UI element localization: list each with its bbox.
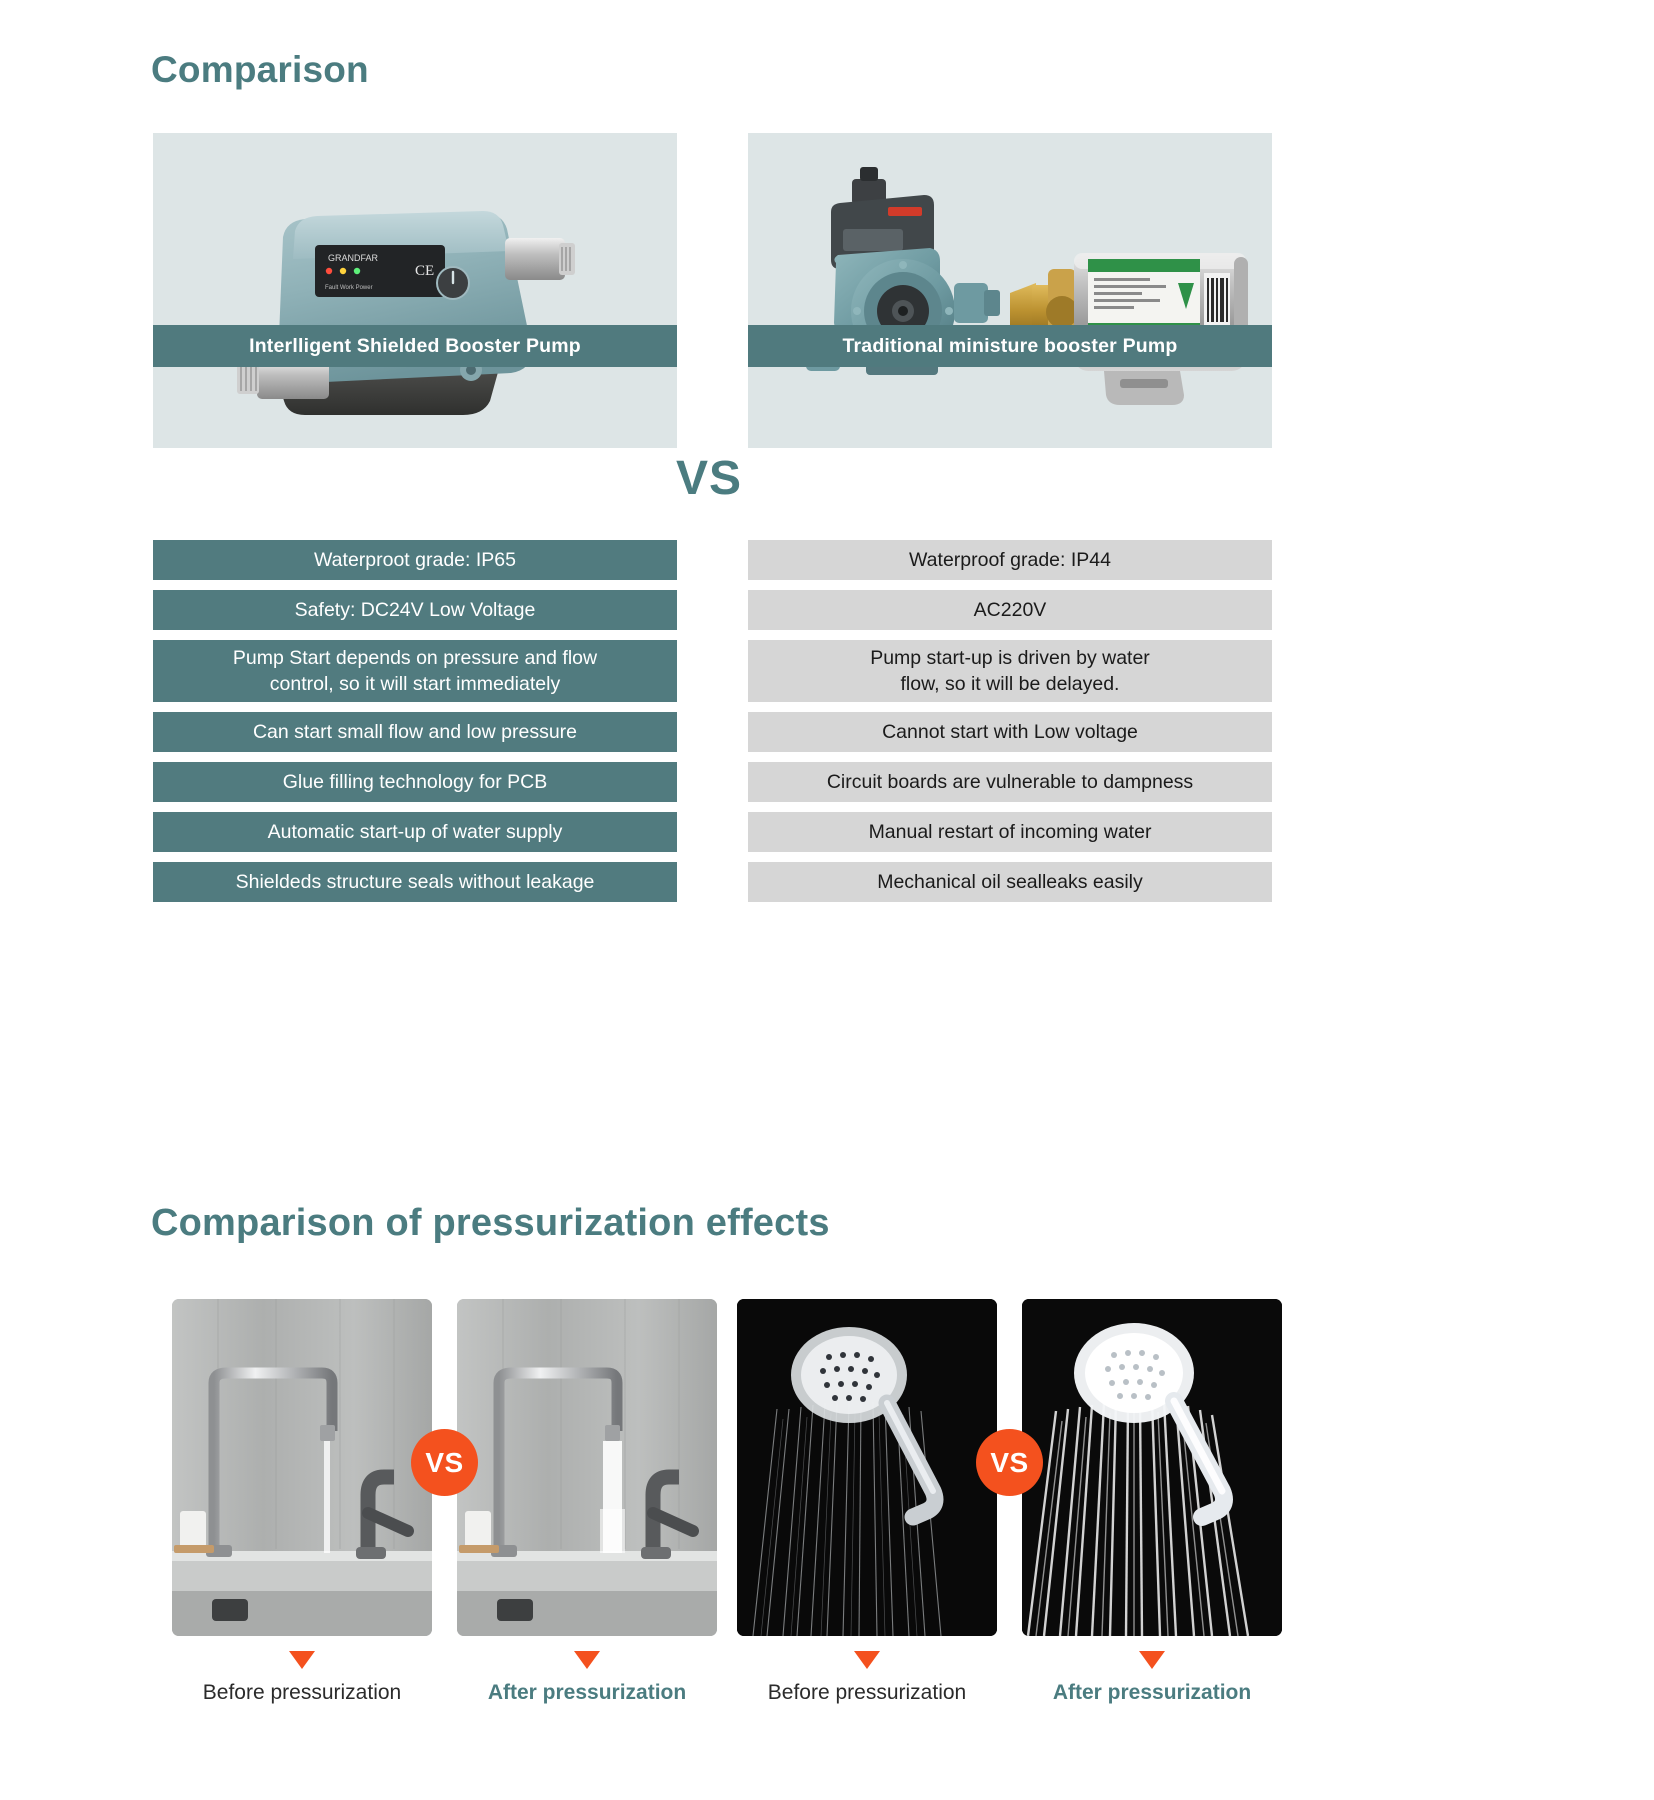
product-caption-left: Interlligent Shielded Booster Pump	[153, 325, 677, 367]
feature-row-label: Waterproof grade: IP44	[909, 547, 1111, 573]
faucet-strong-flow-illustration	[457, 1299, 717, 1636]
vs-badge-shower: VS	[976, 1429, 1043, 1496]
feature-row-label: Waterproot grade: IP65	[314, 547, 516, 573]
feature-row-left-4: Can start small flow and low pressure	[153, 712, 677, 752]
feature-row-right-3: Pump start-up is driven by waterflow, so…	[748, 640, 1272, 702]
pointer-arrow-before-shower	[854, 1651, 880, 1669]
comparison-panels: GRANDFAR Fault Work Power CE	[0, 133, 1654, 508]
product-comparison-page: Comparison	[0, 0, 1654, 1799]
intelligent-booster-pump-illustration: GRANDFAR Fault Work Power CE	[153, 133, 677, 448]
showerhead-strong-flow-illustration	[1022, 1299, 1282, 1636]
caption-after-faucet: After pressurization	[457, 1681, 717, 1705]
feature-row-label: Glue filling technology for PCB	[283, 769, 547, 795]
feature-list-left: Waterproot grade: IP65Safety: DC24V Low …	[153, 540, 677, 912]
showerhead-weak-flow-illustration	[737, 1299, 997, 1636]
product-image-right	[748, 133, 1272, 448]
feature-row-label: Can start small flow and low pressure	[253, 719, 577, 745]
feature-row-left-5: Glue filling technology for PCB	[153, 762, 677, 802]
feature-row-right-1: Waterproof grade: IP44	[748, 540, 1272, 580]
feature-row-right-4: Cannot start with Low voltage	[748, 712, 1272, 752]
feature-row-label: Pump start-up is driven by waterflow, so…	[870, 645, 1150, 697]
pointer-arrow-before-faucet	[289, 1651, 315, 1669]
feature-row-left-2: Safety: DC24V Low Voltage	[153, 590, 677, 630]
feature-row-label: Shieldeds structure seals without leakag…	[236, 869, 595, 895]
feature-row-label: Manual restart of incoming water	[869, 819, 1152, 845]
feature-row-label: Cannot start with Low voltage	[882, 719, 1138, 745]
product-caption-right: Traditional ministure booster Pump	[748, 325, 1272, 367]
feature-row-right-5: Circuit boards are vulnerable to dampnes…	[748, 762, 1272, 802]
traditional-booster-pumps-illustration	[748, 133, 1272, 448]
feature-row-left-3: Pump Start depends on pressure and flowc…	[153, 640, 677, 702]
product-image-left: GRANDFAR Fault Work Power CE	[153, 133, 677, 448]
pointer-arrow-after-shower	[1139, 1651, 1165, 1669]
pointer-arrow-after-faucet	[574, 1651, 600, 1669]
effect-group-shower: VS Before pressurization After pressuriz…	[737, 1299, 1282, 1636]
faucet-after-image	[457, 1299, 717, 1636]
pressurization-effects-section: VS Before pressurization After pressuriz…	[0, 1150, 1654, 1800]
svg-text:GRANDFAR: GRANDFAR	[328, 253, 379, 263]
caption-after-shower: After pressurization	[1022, 1681, 1282, 1705]
caption-before-shower: Before pressurization	[737, 1681, 997, 1705]
feature-row-label: Circuit boards are vulnerable to dampnes…	[827, 769, 1193, 795]
shower-before-image	[737, 1299, 997, 1636]
feature-row-left-6: Automatic start-up of water supply	[153, 812, 677, 852]
vs-badge-faucet: VS	[411, 1429, 478, 1496]
feature-row-label: Automatic start-up of water supply	[268, 819, 563, 845]
feature-list-right: Waterproof grade: IP44AC220VPump start-u…	[748, 540, 1272, 912]
feature-row-right-7: Mechanical oil sealleaks easily	[748, 862, 1272, 902]
faucet-before-image	[172, 1299, 432, 1636]
vs-separator-label: VS	[676, 451, 742, 506]
faucet-weak-flow-illustration	[172, 1299, 432, 1636]
feature-row-right-6: Manual restart of incoming water	[748, 812, 1272, 852]
shower-after-image	[1022, 1299, 1282, 1636]
svg-text:Fault Work Power: Fault Work Power	[325, 285, 373, 291]
feature-row-left-7: Shieldeds structure seals without leakag…	[153, 862, 677, 902]
svg-text:CE: CE	[415, 263, 434, 279]
feature-row-label: Pump Start depends on pressure and flowc…	[233, 645, 597, 697]
feature-row-label: Mechanical oil sealleaks easily	[877, 869, 1143, 895]
page-title-comparison: Comparison	[151, 49, 369, 91]
feature-row-label: AC220V	[974, 597, 1047, 623]
effect-group-faucet: VS Before pressurization After pressuriz…	[172, 1299, 717, 1636]
feature-row-right-2: AC220V	[748, 590, 1272, 630]
caption-before-faucet: Before pressurization	[172, 1681, 432, 1705]
feature-row-left-1: Waterproot grade: IP65	[153, 540, 677, 580]
feature-row-label: Safety: DC24V Low Voltage	[295, 597, 536, 623]
